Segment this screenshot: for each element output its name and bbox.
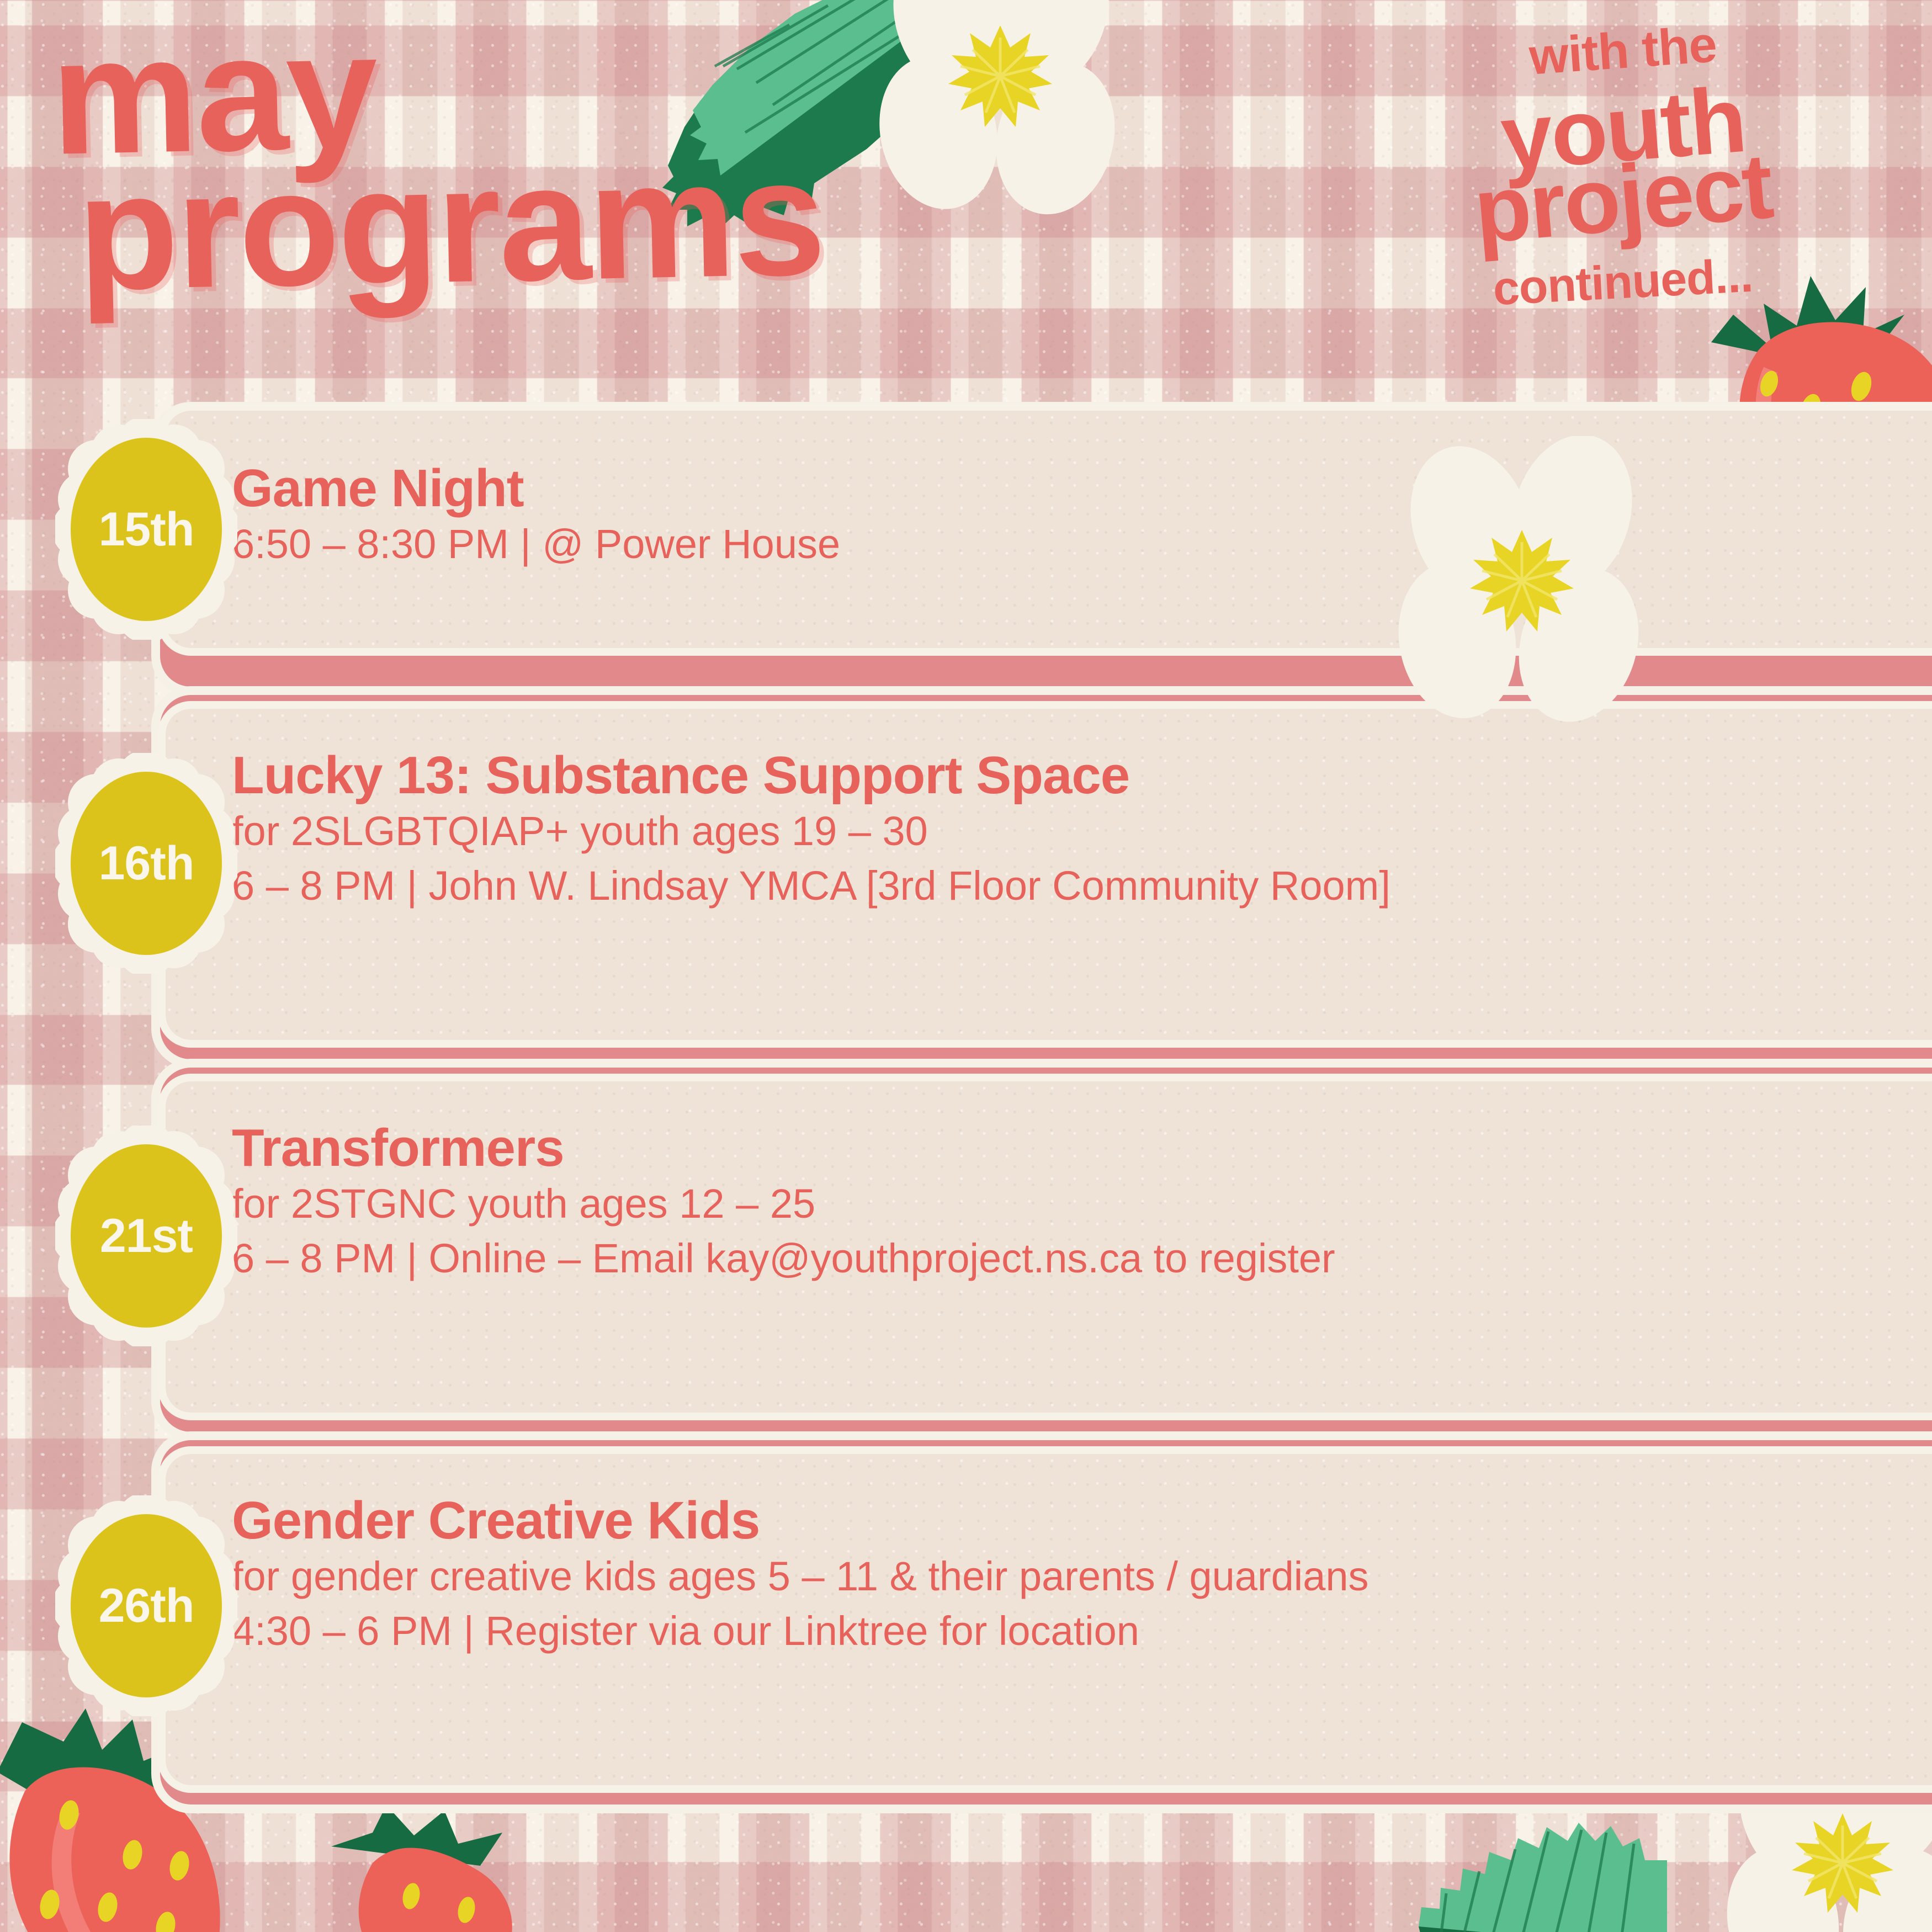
org-credit: with the youth project continued...: [1397, 22, 1849, 310]
event-content: Lucky 13: Substance Support Space for 2S…: [232, 747, 1918, 913]
event-content: Gender Creative Kids for gender creative…: [232, 1493, 1918, 1658]
event-date-oval: 21st: [71, 1144, 222, 1328]
event-content: Transformers for 2STGNC youth ages 12 – …: [232, 1120, 1918, 1286]
event-date-label: 21st: [100, 1209, 193, 1264]
event-date-badge: 26th: [55, 1495, 237, 1716]
event-date-badge: 21st: [55, 1126, 237, 1346]
poster-canvas: may programs with the youth project cont…: [0, 0, 1932, 1932]
event-title: Game Night: [232, 460, 1918, 517]
page-title-line2: programs: [76, 143, 1101, 300]
event-detail-line: 4:30 – 6 PM | Register via our Linktree …: [232, 1604, 1918, 1658]
event-detail-line: for 2SLGBTQIAP+ youth ages 19 – 30: [232, 804, 1918, 858]
event-detail-line: 6 – 8 PM | Online – Email kay@youthproje…: [232, 1231, 1918, 1286]
event-content: Game Night 6:50 – 8:30 PM | @ Power Hous…: [232, 460, 1918, 571]
event-date-oval: 16th: [71, 772, 222, 955]
event-title: Lucky 13: Substance Support Space: [232, 747, 1918, 804]
event-detail-line: for gender creative kids ages 5 – 11 & t…: [232, 1549, 1918, 1604]
event-date-label: 16th: [99, 836, 194, 891]
event-date-label: 15th: [99, 502, 194, 557]
event-title: Gender Creative Kids: [232, 1493, 1918, 1549]
event-date-label: 26th: [99, 1579, 194, 1633]
event-detail-line: for 2STGNC youth ages 12 – 25: [232, 1176, 1918, 1231]
event-detail-line: 6:50 – 8:30 PM | @ Power House: [232, 517, 1918, 571]
event-date-oval: 26th: [71, 1514, 222, 1697]
page-title: may programs: [51, 18, 1100, 289]
event-date-badge: 15th: [55, 419, 237, 640]
event-title: Transformers: [232, 1120, 1918, 1176]
event-date-oval: 15th: [71, 438, 222, 621]
event-detail-line: 6 – 8 PM | John W. Lindsay YMCA [3rd Flo…: [232, 858, 1918, 913]
event-date-badge: 16th: [55, 753, 237, 974]
